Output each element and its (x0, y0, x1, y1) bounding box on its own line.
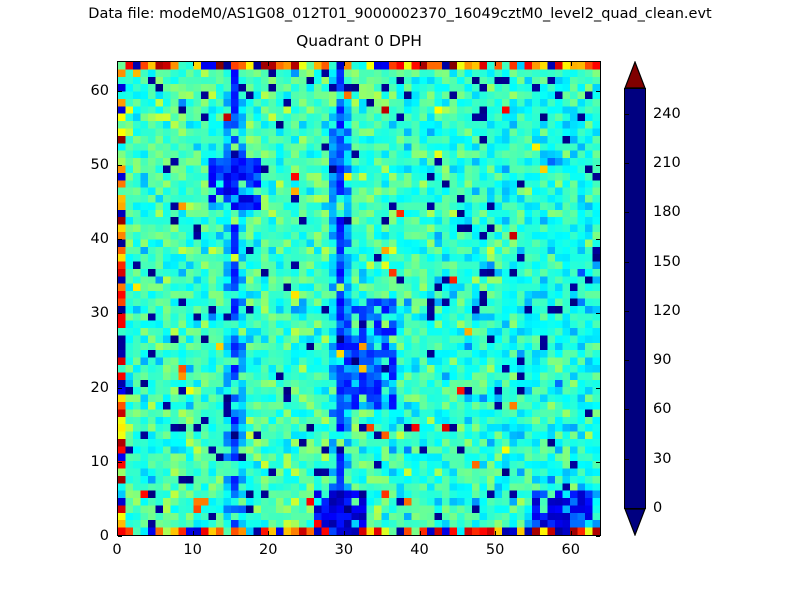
colorbar-gradient (624, 88, 646, 509)
y-tick-label: 30 (91, 305, 109, 321)
y-tick-label: 40 (91, 231, 109, 247)
y-tick-mark (118, 313, 122, 314)
y-tick-label: 20 (91, 380, 109, 396)
y-tick-mark (118, 462, 122, 463)
colorbar-tick-mark (625, 311, 629, 312)
colorbar (624, 61, 646, 536)
colorbar-tick-label: 240 (653, 106, 681, 122)
colorbar-tick-mark (625, 262, 629, 263)
y-tick-mark (118, 536, 122, 537)
colorbar-tick-label: 150 (653, 254, 681, 270)
x-tick-mark (117, 531, 118, 535)
x-tick-mark (268, 531, 269, 535)
colorbar-extend-bottom-arrow (624, 508, 646, 536)
x-tick-mark (571, 62, 572, 66)
x-tick-mark (420, 62, 421, 66)
figure-suptitle: Data file: modeM0/AS1G08_012T01_90000023… (0, 6, 800, 22)
x-tick-label: 10 (183, 542, 201, 558)
x-tick-label: 30 (335, 542, 353, 558)
y-tick-label: 0 (100, 528, 109, 544)
colorbar-tick-mark (625, 163, 629, 164)
y-tick-mark (118, 388, 122, 389)
y-tick-label: 10 (91, 454, 109, 470)
x-tick-mark (495, 531, 496, 535)
y-tick-mark (596, 388, 600, 389)
heatmap-image (118, 62, 600, 535)
colorbar-tick-label: 0 (653, 500, 662, 516)
x-tick-label: 50 (486, 542, 504, 558)
x-tick-mark (344, 62, 345, 66)
colorbar-tick-label: 120 (653, 303, 681, 319)
colorbar-gradient-fill (625, 89, 645, 508)
x-tick-mark (117, 62, 118, 66)
x-tick-mark (268, 62, 269, 66)
colorbar-tick-label: 180 (653, 204, 681, 220)
colorbar-tick-label: 30 (653, 451, 671, 467)
y-tick-mark (596, 462, 600, 463)
colorbar-tick-mark (625, 409, 629, 410)
colorbar-tick-mark (625, 114, 629, 115)
x-tick-mark (344, 531, 345, 535)
x-tick-mark (420, 531, 421, 535)
x-tick-label: 60 (562, 542, 580, 558)
y-tick-mark (118, 91, 122, 92)
x-tick-label: 20 (259, 542, 277, 558)
y-tick-mark (118, 239, 122, 240)
y-tick-mark (596, 165, 600, 166)
y-tick-mark (596, 536, 600, 537)
heatmap-axes (117, 61, 601, 536)
colorbar-tick-mark (625, 212, 629, 213)
colorbar-extend-top-arrow (624, 61, 646, 89)
x-tick-mark (571, 531, 572, 535)
colorbar-tick-mark (625, 360, 629, 361)
colorbar-tick-label: 210 (653, 155, 681, 171)
colorbar-tick-label: 60 (653, 401, 671, 417)
x-tick-label: 0 (112, 542, 121, 558)
x-tick-label: 40 (410, 542, 428, 558)
x-tick-mark (193, 531, 194, 535)
y-tick-label: 60 (91, 83, 109, 99)
y-tick-mark (118, 165, 122, 166)
y-tick-mark (596, 239, 600, 240)
y-tick-mark (596, 313, 600, 314)
y-tick-label: 50 (91, 157, 109, 173)
x-tick-mark (495, 62, 496, 66)
matplotlib-figure: Data file: modeM0/AS1G08_012T01_90000023… (0, 0, 800, 600)
axes-title: Quadrant 0 DPH (117, 32, 601, 50)
y-tick-mark (596, 91, 600, 92)
colorbar-tick-mark (625, 459, 629, 460)
colorbar-tick-mark (625, 508, 629, 509)
colorbar-tick-label: 90 (653, 352, 671, 368)
x-tick-mark (193, 62, 194, 66)
